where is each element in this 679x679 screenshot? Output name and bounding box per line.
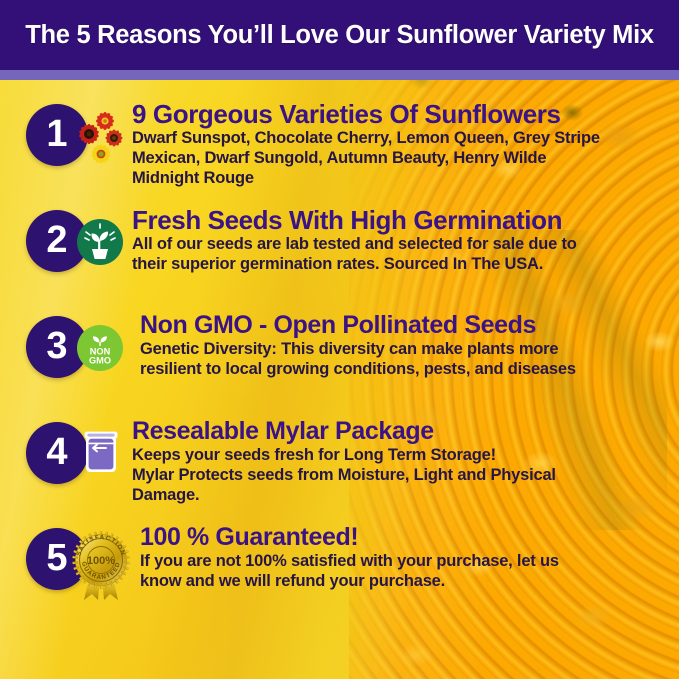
sprouting-seedling-icon (76, 218, 124, 266)
reason-text-1: 9 Gorgeous Varieties Of Sunflowers Dwarf… (132, 98, 679, 188)
reason-badge-group-3: 3 NON GMO (26, 310, 132, 402)
reason-body-3: Genetic Diversity: This diversity can ma… (140, 340, 673, 380)
reason-item-2: 2 (0, 204, 679, 296)
reason-text-5: 100 % Guaranteed! If you are not 100% sa… (132, 522, 679, 592)
reason-number-1: 1 (46, 115, 67, 153)
reason-badge-group-1: 1 (26, 98, 132, 190)
reason-title-1: 9 Gorgeous Varieties Of Sunflowers (132, 100, 673, 128)
reason-body-2: All of our seeds are lab tested and sele… (132, 235, 673, 275)
mylar-pouch-icon (76, 424, 126, 480)
reason-body-line: Damage. (132, 486, 673, 506)
reason-title-3: Non GMO - Open Pollinated Seeds (140, 312, 673, 339)
satisfaction-guarantee-seal-icon: SATISFACTION GUARANTEED 100% (70, 528, 132, 604)
reason-number-5: 5 (46, 539, 67, 577)
reason-item-5: 5 (0, 522, 679, 614)
reason-body-line: Keeps your seeds fresh for Long Term Sto… (132, 446, 673, 466)
reason-item-4: 4 (0, 416, 679, 508)
non-gmo-bottom-text: GMO (89, 355, 111, 365)
reason-body-line: Genetic Diversity: This diversity can ma… (140, 340, 673, 360)
reason-body-line: Mexican, Dwarf Sungold, Autumn Beauty, H… (132, 149, 673, 169)
reasons-list: 1 (0, 80, 679, 614)
reason-body-line: Dwarf Sunspot, Chocolate Cherry, Lemon Q… (132, 129, 673, 149)
reason-body-line: resilient to local growing conditions, p… (140, 360, 673, 380)
reason-number-2: 2 (46, 221, 67, 259)
reason-body-line: If you are not 100% satisfied with your … (140, 552, 673, 572)
reason-text-3: Non GMO - Open Pollinated Seeds Genetic … (132, 310, 679, 380)
reason-body-line: know and we will refund your purchase. (140, 572, 673, 592)
reason-body-1: Dwarf Sunspot, Chocolate Cherry, Lemon Q… (132, 129, 673, 188)
reason-badge-group-2: 2 (26, 204, 132, 296)
reason-badge-group-5: 5 (26, 522, 132, 614)
reason-body-line: Mylar Protects seeds from Moisture, Ligh… (132, 466, 673, 486)
reason-body-line: their superior germination rates. Source… (132, 255, 673, 275)
reason-item-3: 3 NON GMO Non GMO - Open Pollinated Seed (0, 310, 679, 402)
infographic-poster: The 5 Reasons You’ll Love Our Sunflower … (0, 0, 679, 679)
reason-item-1: 1 (0, 98, 679, 190)
reason-badge-group-4: 4 (26, 416, 132, 508)
reason-number-3: 3 (46, 327, 67, 365)
non-gmo-badge-icon: NON GMO (76, 324, 124, 372)
reason-body-line: All of our seeds are lab tested and sele… (132, 235, 673, 255)
header-accent-stripe (0, 70, 679, 80)
reason-number-4: 4 (46, 433, 67, 471)
reason-body-5: If you are not 100% satisfied with your … (140, 552, 673, 592)
reason-text-2: Fresh Seeds With High Germination All of… (132, 204, 679, 275)
seal-center-text: 100% (87, 555, 115, 567)
reason-body-line: Midnight Rouge (132, 169, 673, 189)
header-bar: The 5 Reasons You’ll Love Our Sunflower … (0, 0, 679, 70)
reason-title-2: Fresh Seeds With High Germination (132, 206, 673, 234)
reason-body-4: Keeps your seeds fresh for Long Term Sto… (132, 446, 673, 505)
reason-title-4: Resealable Mylar Package (132, 418, 673, 445)
page-title: The 5 Reasons You’ll Love Our Sunflower … (25, 21, 654, 50)
reason-text-4: Resealable Mylar Package Keeps your seed… (132, 416, 679, 505)
sunflower-bouquet-icon (72, 108, 130, 166)
reason-title-5: 100 % Guaranteed! (140, 524, 673, 551)
